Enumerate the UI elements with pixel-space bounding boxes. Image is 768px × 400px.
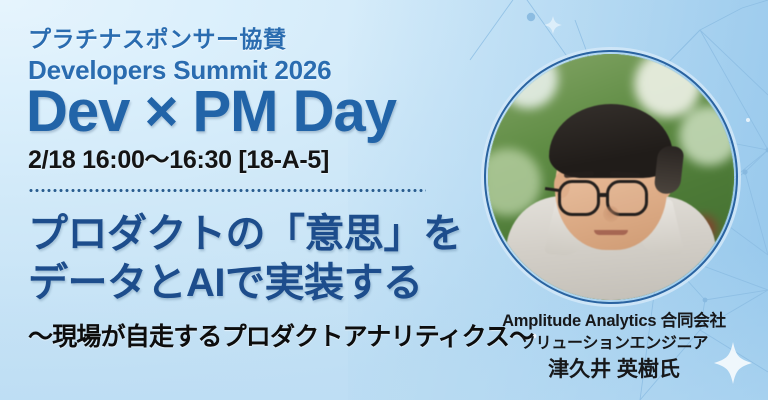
sponsor-kicker: プラチナスポンサー協賛 [28, 20, 287, 54]
speaker-company: Amplitude Analytics 合同会社 [484, 311, 744, 332]
avatar-ring [484, 50, 738, 304]
seminar-banner: プラチナスポンサー協賛 Developers Summit 2026 Dev ×… [0, 0, 768, 400]
session-headline: プロダクトの「意思」を データとAIで実装する [28, 210, 463, 308]
text-column: プラチナスポンサー協賛 Developers Summit 2026 Dev ×… [28, 0, 480, 400]
speaker-role: ソリューションエンジニア [484, 333, 744, 355]
session-headline-line-2: データとAIで実装する [28, 259, 463, 308]
page-title: Dev × PM Day [26, 83, 396, 141]
session-headline-line-1: プロダクトの「意思」を [28, 210, 463, 259]
speaker-info: Amplitude Analytics 合同会社 ソリューションエンジニア 津久… [484, 311, 744, 384]
divider [28, 188, 426, 193]
avatar [484, 50, 738, 304]
session-subheadline: 〜現場が自走するプロダクトアナリティクス〜 [28, 317, 533, 353]
speaker-name: 津久井 英樹氏 [484, 356, 744, 383]
session-datetime: 2/18 16:00〜16:30 [18-A-5] [28, 140, 329, 176]
